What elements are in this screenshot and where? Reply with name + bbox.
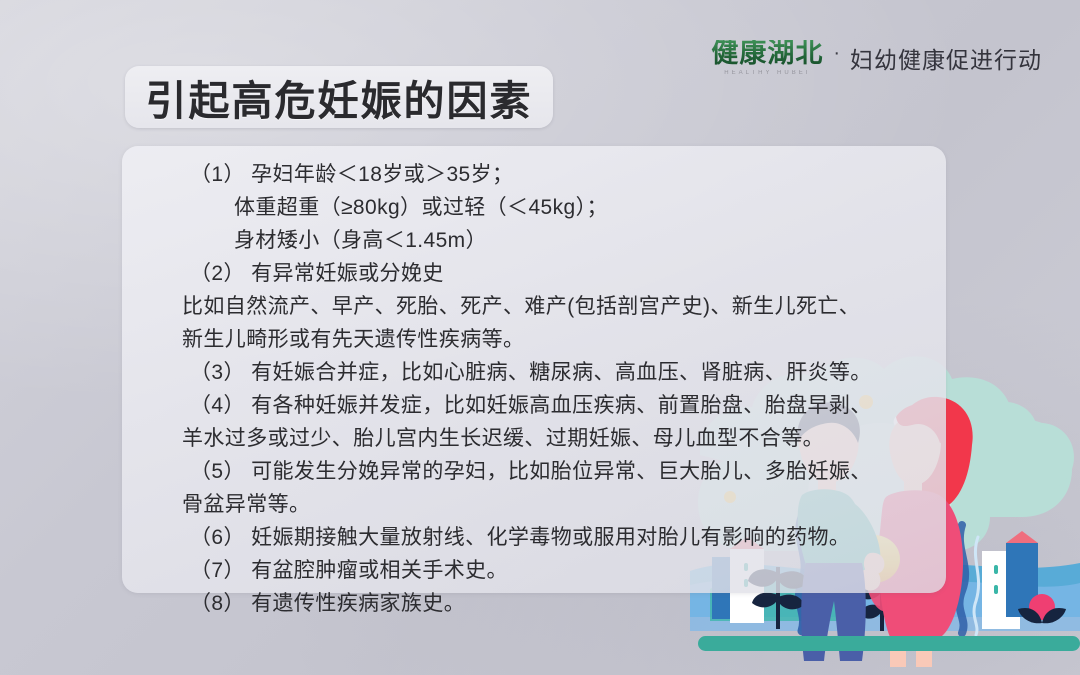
list-item-line-continued: 羊水过多或过少、胎儿宫内生长迟缓、过期妊娠、母儿血型不合等。 xyxy=(182,422,950,455)
list-item-line-numbered: （4） 有各种妊娠并发症，比如妊娠高血压疾病、前置胎盘、胎盘早剥、 xyxy=(190,389,950,422)
logo-separator-dot: · xyxy=(833,43,840,73)
list-item-line-numbered: （1） 孕妇年龄＜18岁或＞35岁； xyxy=(190,158,950,191)
campaign-subtitle: 妇幼健康促进行动 xyxy=(850,41,1042,75)
list-item-line-continued: 体重超重（≥80kg）或过轻（＜45kg）； xyxy=(190,191,950,224)
list-item-line-continued: 身材矮小（身高＜1.45m） xyxy=(190,224,950,257)
list-item-line-numbered: （3） 有妊娠合并症，比如心脏病、糖尿病、高血压、肾脏病、肝炎等。 xyxy=(190,356,950,389)
logo-healthy-hubei: 健康湖北 HEALTHY HUBEI xyxy=(711,40,823,76)
page-title: 引起高危妊娠的因素 xyxy=(146,67,533,127)
list-item-line-numbered: （2） 有异常妊娠或分娩史 xyxy=(190,257,950,290)
slide-root: 健康湖北 HEALTHY HUBEI · 妇幼健康促进行动 引起高危妊娠的因素 … xyxy=(0,0,1080,675)
list-item-line-continued: 骨盆异常等。 xyxy=(182,488,950,521)
list-item-line-numbered: （8） 有遗传性疾病家族史。 xyxy=(190,587,950,620)
list-item-line-numbered: （7） 有盆腔肿瘤或相关手术史。 xyxy=(190,554,950,587)
list-item-line-continued: 比如自然流产、早产、死胎、死产、难产(包括剖宫产史)、新生儿死亡、 xyxy=(182,290,950,323)
brand-header: 健康湖北 HEALTHY HUBEI · 妇幼健康促进行动 xyxy=(711,40,1042,76)
slide-title-pill: 引起高危妊娠的因素 xyxy=(125,66,553,128)
logo-latin-text: HEALTHY HUBEI xyxy=(724,70,810,76)
ground-bar xyxy=(698,636,1080,651)
logo-chinese-text: 健康湖北 xyxy=(711,40,823,67)
list-item-line-continued: 新生儿畸形或有先天遗传性疾病等。 xyxy=(182,323,950,356)
list-item-line-numbered: （6） 妊娠期接触大量放射线、化学毒物或服用对胎儿有影响的药物。 xyxy=(190,521,950,554)
list-item-line-numbered: （5） 可能发生分娩异常的孕妇，比如胎位异常、巨大胎儿、多胎妊娠、 xyxy=(190,455,950,488)
content-text-block: （1） 孕妇年龄＜18岁或＞35岁；体重超重（≥80kg）或过轻（＜45kg）；… xyxy=(190,158,950,620)
